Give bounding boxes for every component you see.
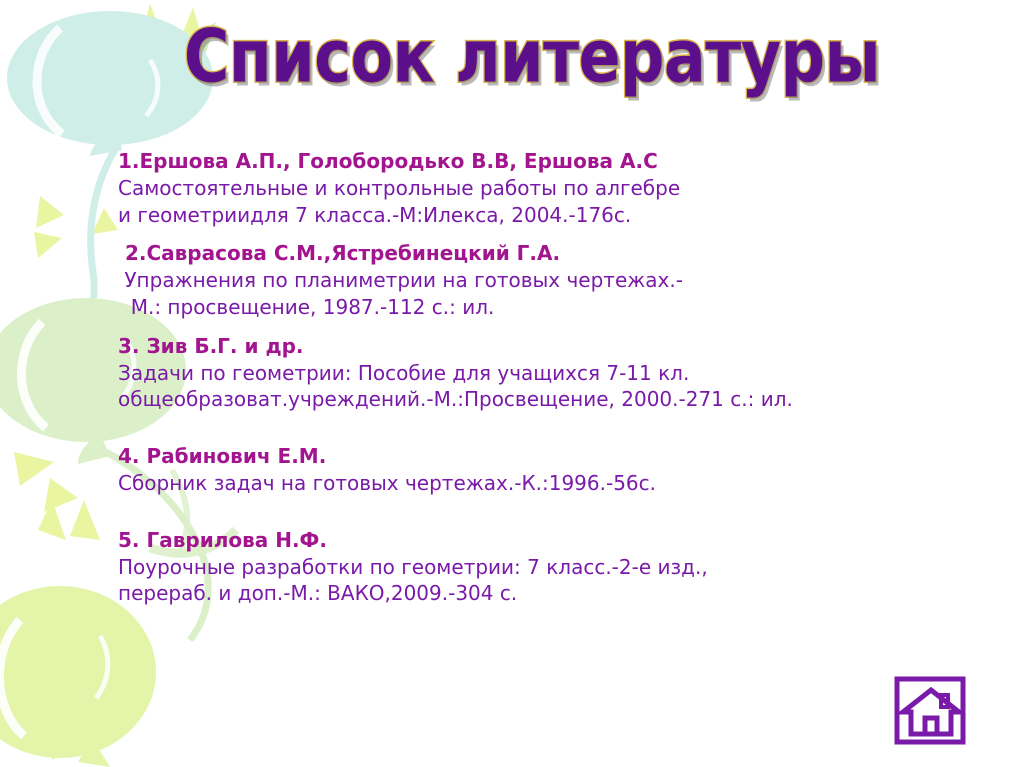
- ray-burst-bottom: [52, 692, 136, 767]
- balloon-yellow-green: [0, 586, 156, 758]
- reference-heading: 1.Ершова А.П., Голобородько В.В, Ершова …: [118, 148, 998, 175]
- reference-line: Сборник задач на готовых чертежах.-К.:19…: [118, 470, 998, 497]
- reference-heading: 3. Зив Б.Г. и др.: [118, 333, 998, 360]
- reference-heading: 5. Гаврилова Н.Ф.: [118, 527, 998, 554]
- reference-line: Упражнения по планиметрии на готовых чер…: [118, 267, 998, 294]
- reference-line: Задачи по геометрии: Пособие для учащихс…: [118, 360, 998, 387]
- page-title: Список литературы: [184, 18, 880, 95]
- home-icon[interactable]: [893, 676, 969, 748]
- reference-heading: 2.Саврасова С.М.,Ястребинецкий Г.А.: [118, 240, 998, 267]
- reference-line: Самостоятельные и контрольные работы по …: [118, 175, 998, 202]
- reference-line: Поурочные разработки по геометрии: 7 кла…: [118, 554, 998, 581]
- reference-entry: 5. Гаврилова Н.Ф. Поурочные разработки п…: [118, 527, 998, 607]
- reference-entry: 2.Саврасова С.М.,Ястребинецкий Г.А. Упра…: [118, 240, 998, 320]
- slide-root: Список литературы 1.Ершова А.П., Голобор…: [0, 0, 1024, 767]
- bibliography-list: 1.Ершова А.П., Голобородько В.В, Ершова …: [118, 148, 998, 607]
- reference-entry: 1.Ершова А.П., Голобородько В.В, Ершова …: [118, 148, 998, 228]
- reference-entry: 4. Рабинович Е.М. Сборник задач на готов…: [118, 443, 998, 497]
- reference-entry: 3. Зив Б.Г. и др. Задачи по геометрии: П…: [118, 333, 998, 413]
- title-container: Список литературы: [0, 18, 1024, 83]
- reference-line: общеобразоват.учреждений.-М.:Просвещение…: [118, 386, 998, 413]
- reference-line: и геометриидля 7 класса.-М:Илекса, 2004.…: [118, 202, 998, 229]
- reference-heading: 4. Рабинович Е.М.: [118, 443, 998, 470]
- home-button[interactable]: [893, 676, 969, 748]
- reference-line: перераб. и доп.-М.: ВАКО,2009.-304 с.: [118, 580, 998, 607]
- reference-line: М.: просвещение, 1987.-112 с.: ил.: [118, 294, 998, 321]
- ray-burst-middle: [14, 452, 100, 540]
